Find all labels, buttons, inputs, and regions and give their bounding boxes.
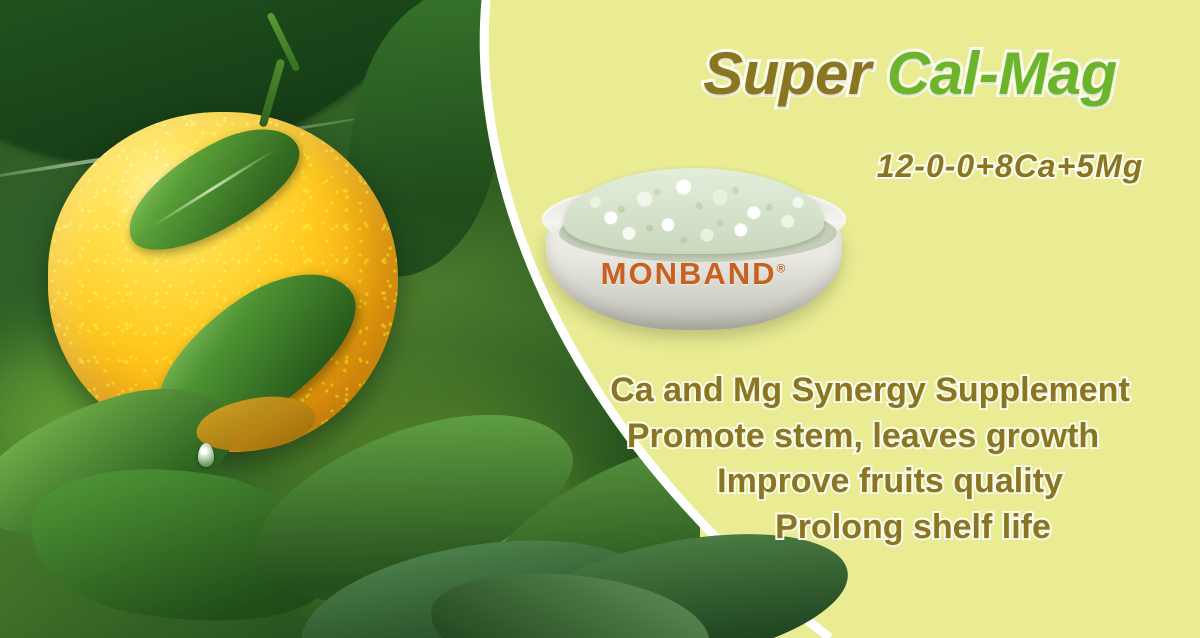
fertilizer-granules xyxy=(564,168,824,254)
benefit-item: Improve fruits quality xyxy=(600,459,1180,505)
product-banner: Super Cal-Mag 12-0-0+8Ca+5Mg MONBAND® Ca… xyxy=(0,0,1200,638)
benefit-item: Promote stem, leaves growth xyxy=(546,414,1180,460)
registered-trademark-icon: ® xyxy=(777,262,788,276)
headline-word-super: Super xyxy=(703,40,871,107)
product-headline: Super Cal-Mag xyxy=(640,44,1180,104)
benefit-item: Prolong shelf life xyxy=(646,505,1180,551)
benefits-list: Ca and Mg Synergy Supplement Promote ste… xyxy=(560,368,1180,550)
brand-label: MONBAND® xyxy=(538,256,850,292)
benefit-item: Ca and Mg Synergy Supplement xyxy=(560,368,1180,414)
brand-name: MONBAND xyxy=(601,256,777,291)
headline-word-calmag: Cal-Mag xyxy=(887,40,1117,107)
npk-formula: 12-0-0+8Ca+5Mg xyxy=(840,148,1180,185)
product-bowl: MONBAND® xyxy=(538,168,850,340)
